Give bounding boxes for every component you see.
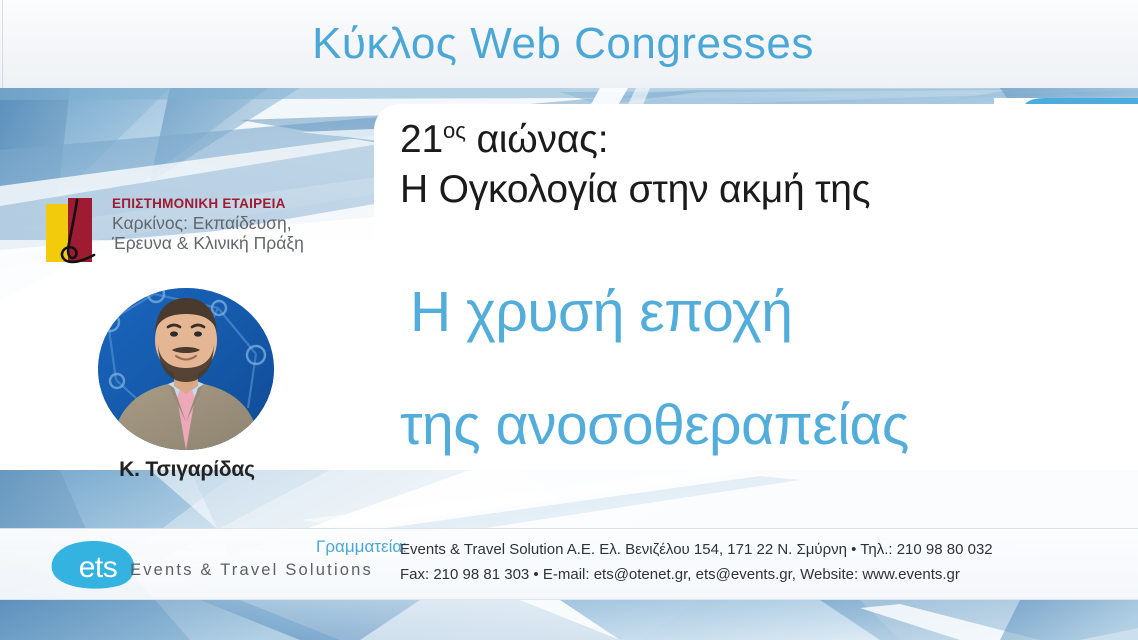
society-kicker: ΕΠΙΣΤΗΜΟΝΙΚΗ ΕΤΑΙΡΕΙΑ	[112, 196, 358, 211]
congress-series-title: Κύκλος Web Congresses	[0, 0, 1138, 88]
header-band: Κύκλος Web Congresses	[0, 0, 1138, 88]
speaker-avatar	[98, 288, 274, 450]
society-logo-mark	[46, 198, 102, 268]
session-number: 21	[400, 118, 443, 161]
session-number-ordinal: ος	[443, 118, 466, 143]
contact-line-address: Events & Travel Solution A.E. Ελ. Βενιζέ…	[400, 538, 1100, 561]
lecture-headline-line-2: της ανοσοθεραπείας	[400, 397, 1100, 454]
ets-wordmark: Events & Travel Solutions	[130, 561, 373, 580]
speaker-portrait-image	[98, 288, 274, 450]
society-logo: ΕΠΙΣΤΗΜΟΝΙΚΗ ΕΤΑΙΡΕΙΑ Καρκίνος: Εκπαίδευ…	[46, 196, 356, 274]
speaker-name: Κ. Τσιγαρίδας	[98, 458, 276, 482]
footer-contact-info: Events & Travel Solution A.E. Ελ. Βενιζέ…	[400, 538, 1100, 587]
session-title-line-1: 21ος αιώνας:	[400, 118, 608, 162]
speaker-block: Κ. Τσιγαρίδας	[98, 288, 276, 482]
secretariat-label: Γραμματεία:	[316, 537, 407, 557]
lecture-headline: Η χρυσή εποχή της ανοσοθεραπείας	[400, 284, 1100, 454]
contact-line-email: Fax: 210 98 81 303 • E-mail: ets@otenet.…	[400, 563, 1100, 586]
session-title-line-1-suffix: αιώνας:	[466, 118, 609, 161]
ets-logo: ets Events & Travel Solutions Γραμματεία…	[48, 539, 384, 591]
society-subtitle-line-2: Έρευνα & Κλινική Πράξη	[112, 234, 358, 254]
society-logo-text: ΕΠΙΣΤΗΜΟΝΙΚΗ ΕΤΑΙΡΕΙΑ Καρκίνος: Εκπαίδευ…	[112, 196, 358, 253]
svg-text:ets: ets	[79, 551, 118, 584]
presentation-slide: Κύκλος Web Congresses 21ος αιώνας: Η Ογκ…	[0, 0, 1138, 640]
session-title-card: 21ος αιώνας: Η Ογκολογία στην ακμή της	[374, 104, 1138, 242]
session-title-line-2: Η Ογκολογία στην ακμή της	[400, 168, 870, 212]
lecture-headline-line-1: Η χρυσή εποχή	[410, 284, 1100, 341]
society-subtitle: Καρκίνος: Εκπαίδευση, Έρευνα & Κλινική Π…	[112, 214, 358, 253]
society-subtitle-line-1: Καρκίνος: Εκπαίδευση,	[112, 214, 358, 234]
